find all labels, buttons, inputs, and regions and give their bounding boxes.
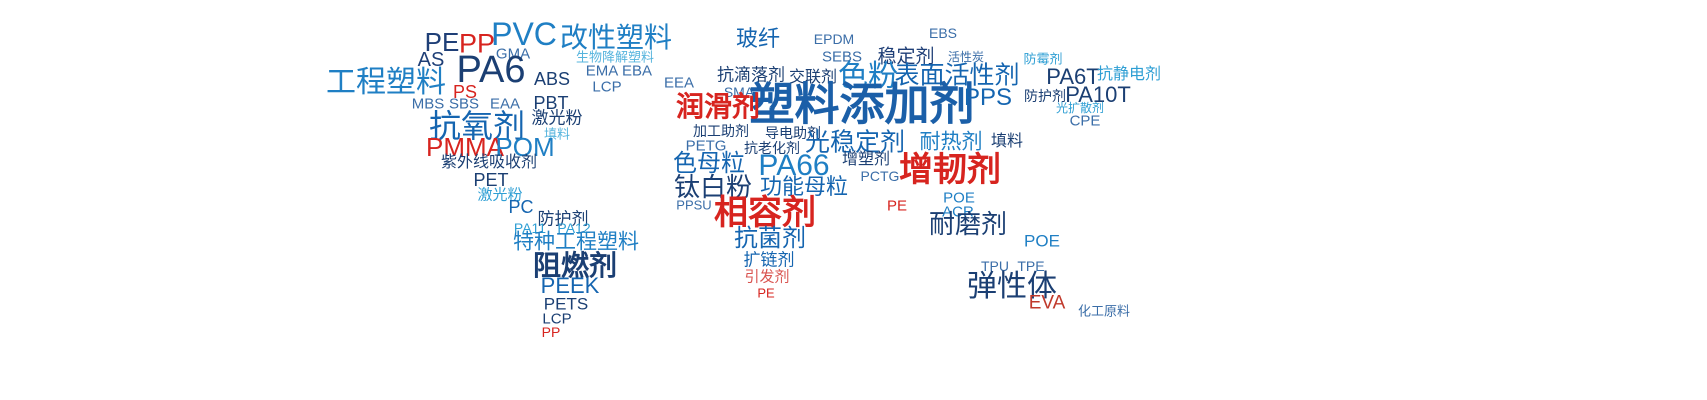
word-cloud-term[interactable]: EEA — [664, 76, 694, 91]
word-cloud-term[interactable]: 激光粉 — [532, 110, 583, 127]
word-cloud-term[interactable]: 工程塑料 — [326, 68, 446, 98]
word-cloud-term[interactable]: POE — [1024, 233, 1060, 250]
word-cloud-term[interactable]: LCP — [592, 80, 621, 95]
word-cloud-term[interactable]: 增韧剂 — [899, 153, 1001, 187]
word-cloud-term[interactable]: 紫外线吸收剂 — [441, 155, 537, 171]
word-cloud-term[interactable]: 改性塑料 — [560, 24, 672, 52]
word-cloud-term[interactable]: PE — [887, 199, 907, 214]
word-cloud-term[interactable]: CPE — [1070, 114, 1101, 129]
word-cloud-term[interactable]: EVA — [1029, 294, 1066, 313]
word-cloud-term[interactable]: PC — [508, 198, 533, 216]
word-cloud-term[interactable]: 抗静电剂 — [1097, 67, 1161, 83]
word-cloud-term[interactable]: 抗菌剂 — [734, 227, 806, 251]
word-cloud-term[interactable]: EBA — [622, 64, 652, 79]
word-cloud-term[interactable]: 玻纤 — [736, 28, 780, 50]
word-cloud-term[interactable]: EBS — [929, 26, 957, 40]
word-cloud-term[interactable]: 引发剂 — [744, 270, 789, 285]
word-cloud-term[interactable]: PCTG — [861, 169, 900, 183]
word-cloud-term[interactable]: 扩链剂 — [744, 252, 795, 269]
word-cloud-term[interactable]: 填料 — [991, 134, 1023, 150]
word-cloud-term[interactable]: EMA — [586, 64, 619, 79]
word-cloud-term[interactable]: PPSU — [676, 199, 711, 212]
word-cloud-term[interactable]: 耐热剂 — [920, 132, 983, 153]
word-cloud-term[interactable]: 加工助剂 — [693, 124, 749, 138]
word-cloud-canvas: PEPPPVCGMA改性塑料玻纤EPDMEBSASPA6生物降解塑料SEBS稳定… — [0, 0, 1707, 400]
word-cloud-term[interactable]: PPS — [964, 86, 1012, 110]
word-cloud-term[interactable]: PP — [542, 325, 561, 339]
word-cloud-term[interactable]: 耐磨剂 — [929, 211, 1007, 237]
word-cloud-term[interactable]: ABS — [534, 70, 570, 88]
word-cloud-term[interactable]: 润滑剂 — [676, 93, 760, 121]
word-cloud-term[interactable]: 增塑剂 — [842, 152, 890, 168]
word-cloud-term[interactable]: 塑料添加剂 — [749, 82, 974, 127]
word-cloud-term[interactable]: PE — [757, 287, 774, 300]
word-cloud-term[interactable]: 化工原料 — [1078, 305, 1130, 318]
word-cloud-term[interactable]: EPDM — [814, 32, 854, 46]
